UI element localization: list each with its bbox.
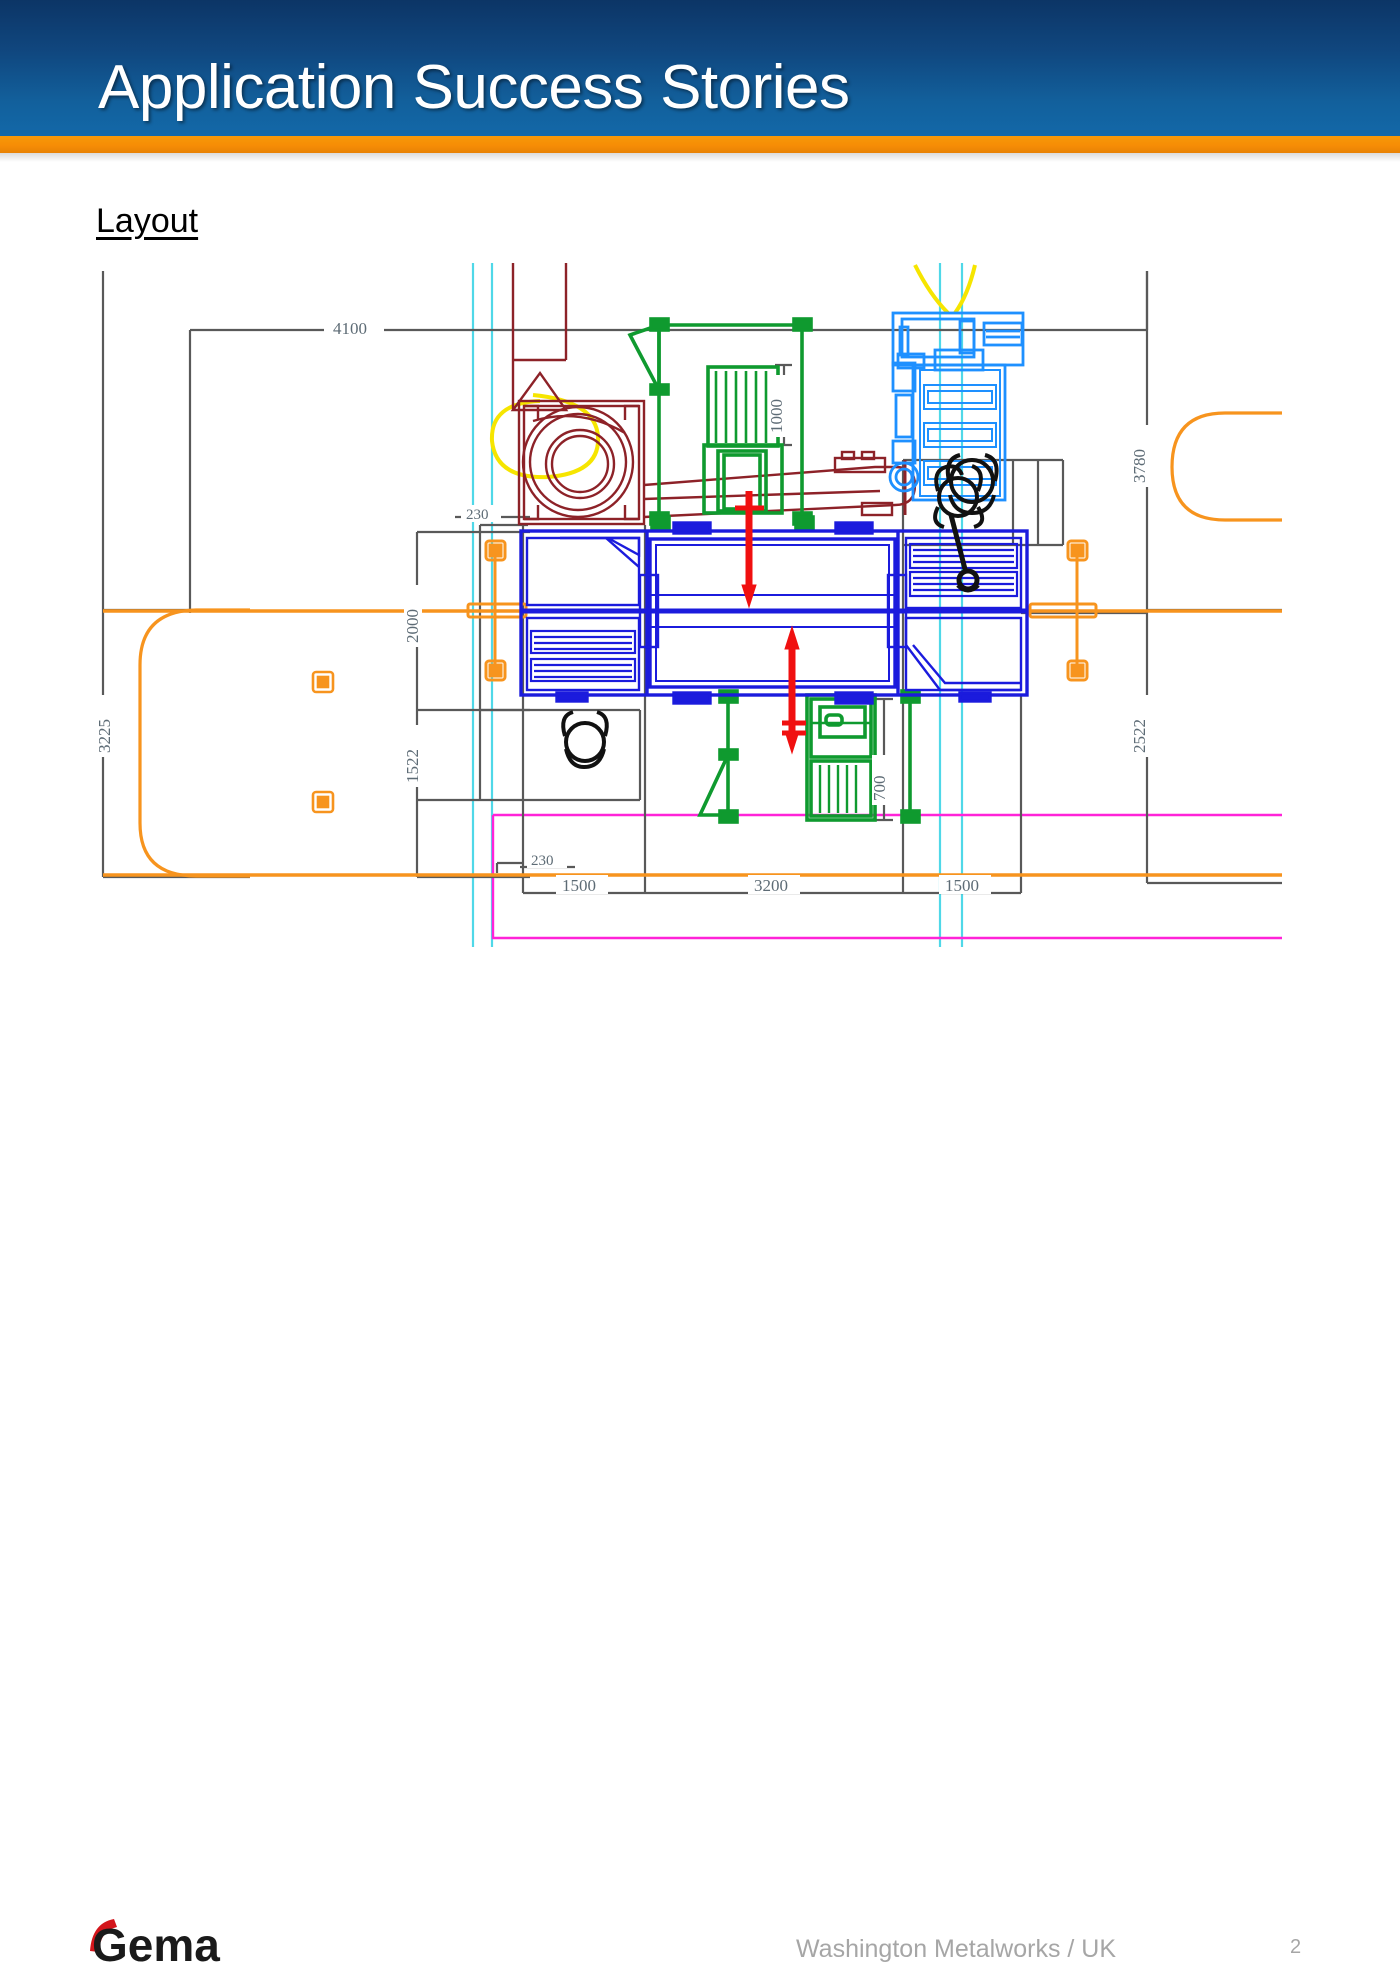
dim-label-3225: 3225: [95, 719, 114, 753]
gema-logo-text: Gema: [92, 1919, 220, 1967]
booth-blue: [521, 523, 1027, 703]
slide-footer: Gema Washington Metalworks / UK 2: [0, 950, 1400, 1050]
layout-drawing: 4100 230 1000 3780 2522 3225 2000 1522 7…: [0, 255, 1400, 955]
dim-label-230-top: 230: [466, 507, 489, 523]
slide: Application Success Stories Layout: [0, 0, 1400, 1050]
dim-label-3200: 3200: [754, 876, 788, 895]
footer-caption: Washington Metalworks / UK: [796, 1935, 1116, 1964]
header-drop-shadow: [0, 153, 1400, 162]
control-lightblue: [890, 313, 1023, 500]
cyclone-red: [513, 263, 915, 524]
operator-figure-bottom: [563, 712, 607, 767]
dim-label-1000: 1000: [767, 399, 786, 433]
conveyor-orange: [103, 413, 1282, 876]
dim-label-1522: 1522: [403, 749, 422, 783]
dim-label-700: 700: [870, 776, 889, 802]
section-heading: Layout: [96, 202, 198, 241]
dim-label-2522: 2522: [1130, 719, 1149, 753]
dim-label-3780: 3780: [1130, 449, 1149, 483]
dim-label-1500-right: 1500: [945, 876, 979, 895]
dimension-lines: [103, 271, 1282, 893]
header-orange-rule: [0, 136, 1400, 153]
dim-label-230-bottom: 230: [531, 853, 554, 869]
dim-label-4100: 4100: [333, 319, 367, 338]
page-number: 2: [1290, 1936, 1301, 1959]
page-title: Application Success Stories: [98, 52, 850, 124]
gema-logo: Gema: [86, 1915, 256, 1967]
dim-label-2000: 2000: [403, 609, 422, 643]
dim-label-1500-left: 1500: [562, 876, 596, 895]
